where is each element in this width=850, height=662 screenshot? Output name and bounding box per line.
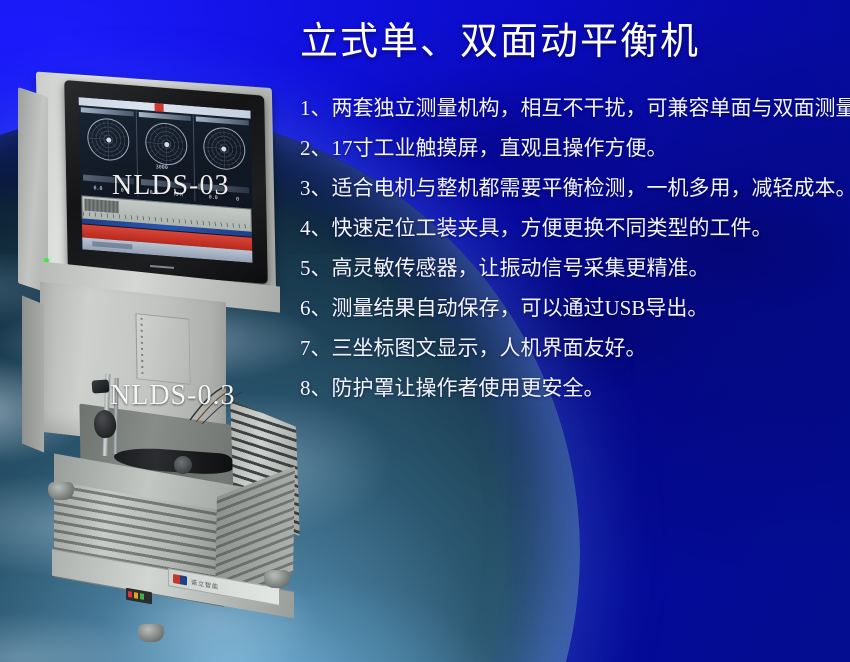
readout-angle: 0 [121,187,124,193]
feature-item: 6、测量结果自动保存，可以通过USB导出。 [300,288,848,328]
polar-plot-icon [87,117,130,162]
screen-panel-center: 3000 0.0 RPM [136,111,195,202]
panel-row-labels [83,174,134,184]
touchscreen-display: 0.0 0 3000 0.0 RPM [79,97,254,263]
readout-value: 0.0 [150,190,159,197]
feature-item: 5、高灵敏传感器，让振动信号采集更精准。 [300,248,848,288]
cabinet-side-panel [22,296,44,453]
panel-row-labels [198,184,249,194]
feature-index: 4、 [300,216,332,240]
feature-item: 2、17寸工业触摸屏，直观且操作方便。 [300,128,848,168]
panel-readouts: 0.0 0 [200,194,249,204]
brand-name-label: 诺立智能 [191,577,219,591]
rotor-hub [174,456,192,474]
feature-text: 高灵敏传感器，让振动信号采集更精准。 [332,256,710,280]
screen-panel-right: 0.0 0 [194,115,252,206]
machine-foot [264,570,290,588]
feature-index: 6、 [300,296,332,320]
feature-item: 4、快速定位工装夹具，方便更换不同类型的工件。 [300,208,848,248]
panel-readouts: 0.0 0 [84,185,133,195]
feature-index: 1、 [300,96,332,120]
feature-text: 17寸工业触摸屏，直观且操作方便。 [332,136,668,160]
readout-value: 0.0 [209,194,218,201]
polar-plot-icon [145,121,188,166]
brand-logo-icon [173,574,187,585]
readout-angle: 0 [236,197,239,203]
cabinet-inner-bracket [135,313,190,385]
speed-readout: 3000 [156,164,168,171]
feature-index: 5、 [300,256,332,280]
feature-text: 三坐标图文显示，人机界面友好。 [332,336,647,360]
panel-readouts: 0.0 RPM [142,189,191,199]
feature-item: 1、两套独立测量机构，相互不干扰，可兼容单面与双面测量。 [300,88,848,128]
feature-item: 8、防护罩让操作者使用更安全。 [300,368,848,408]
feature-index: 3、 [300,176,332,200]
feature-list: 1、两套独立测量机构，相互不干扰，可兼容单面与双面测量。 2、17寸工业触摸屏，… [300,88,848,408]
machine-foot [138,624,164,642]
feature-item: 3、适合电机与整机都需要平衡检测，一机多用，减轻成本。 [300,168,848,208]
sensor-head [92,379,110,393]
panel-row-labels [141,179,192,189]
feature-text: 测量结果自动保存，可以通过USB导出。 [332,296,709,320]
page-title: 立式单、双面动平衡机 [300,10,700,65]
feature-index: 7、 [300,336,332,360]
promo-slide: 0.0 0 3000 0.0 RPM [0,0,850,662]
readout-value: 0.0 [93,185,102,192]
feature-text: 两套独立测量机构，相互不干扰，可兼容单面与双面测量。 [332,96,850,120]
feature-item: 7、三坐标图文显示，人机界面友好。 [300,328,848,368]
feature-text: 适合电机与整机都需要平衡检测，一机多用，减轻成本。 [332,176,850,200]
screen-measurement-panels: 0.0 0 3000 0.0 RPM [79,106,253,206]
feature-text: 防护罩让操作者使用更安全。 [332,376,605,400]
feature-index: 8、 [300,376,332,400]
feature-index: 2、 [300,136,332,160]
machine-foot [48,482,74,500]
polar-plot-icon [203,126,246,171]
screen-panel-left: 0.0 0 [79,106,138,197]
feature-text: 快速定位工装夹具，方便更换不同类型的工件。 [332,216,773,240]
balancing-machine-photo: 0.0 0 3000 0.0 RPM [18,78,308,598]
readout-unit: RPM [174,192,183,199]
